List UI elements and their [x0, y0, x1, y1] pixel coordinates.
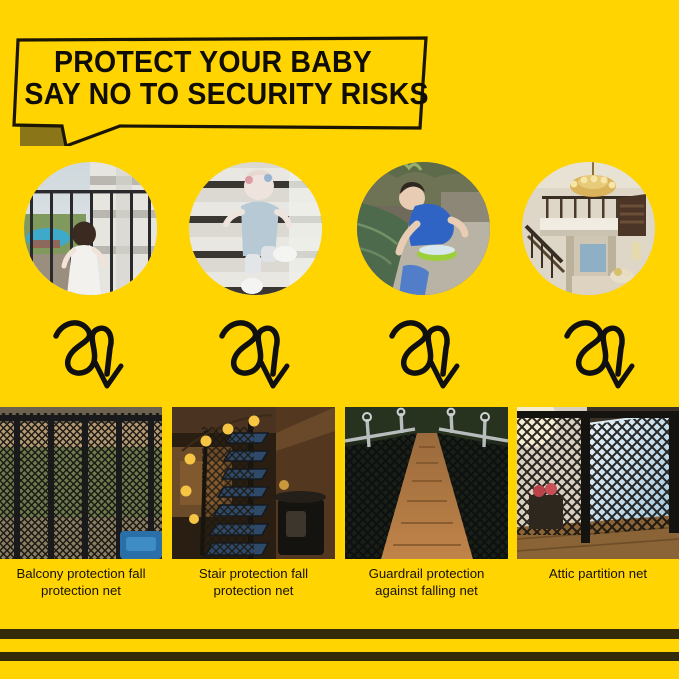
curly-down-arrow-icon — [388, 318, 466, 392]
product-photo-attic-net — [517, 407, 679, 559]
bottom-stripe-upper — [0, 629, 679, 639]
banner-shape — [8, 36, 432, 146]
product-photo-stair-net — [172, 407, 335, 559]
stair-net-illustration — [172, 407, 335, 559]
curly-down-arrow-2 — [218, 318, 296, 392]
curly-down-arrow-icon — [52, 318, 130, 392]
circle-photo-interior-loft-balcony — [522, 162, 655, 295]
toddler-balcony-railing-illustration — [24, 162, 157, 295]
curly-down-arrow-icon — [218, 318, 296, 392]
circle-photo-baby-climbing-stairs — [189, 162, 322, 295]
baby-climbing-stairs-illustration — [189, 162, 322, 295]
boy-at-pond-edge-illustration — [357, 162, 490, 295]
balcony-net-illustration — [0, 407, 162, 559]
caption-guardrail-net: Guardrail protectionagainst falling net — [345, 565, 508, 600]
circle-photo-toddler-balcony-railing — [24, 162, 157, 295]
bottom-stripe-lower — [0, 652, 679, 661]
curly-down-arrow-icon — [563, 318, 641, 392]
caption-balcony-net: Balcony protection fallprotection net — [0, 565, 162, 600]
curly-down-arrow-1 — [52, 318, 130, 392]
interior-loft-balcony-illustration — [522, 162, 655, 295]
caption-attic-net: Attic partition net — [517, 565, 679, 582]
guardrail-net-illustration — [345, 407, 508, 559]
headline-banner: PROTECT YOUR BABY SAY NO TO SECURITY RIS… — [8, 36, 432, 146]
caption-stair-net: Stair protection fallprotection net — [172, 565, 335, 600]
circle-photo-boy-at-pond-edge — [357, 162, 490, 295]
attic-net-illustration — [517, 407, 679, 559]
curly-down-arrow-4 — [563, 318, 641, 392]
product-photo-guardrail-net — [345, 407, 508, 559]
banner-outline — [14, 38, 426, 146]
product-photo-balcony-net — [0, 407, 162, 559]
product-infographic-poster: PROTECT YOUR BABY SAY NO TO SECURITY RIS… — [0, 0, 679, 679]
curly-down-arrow-3 — [388, 318, 466, 392]
